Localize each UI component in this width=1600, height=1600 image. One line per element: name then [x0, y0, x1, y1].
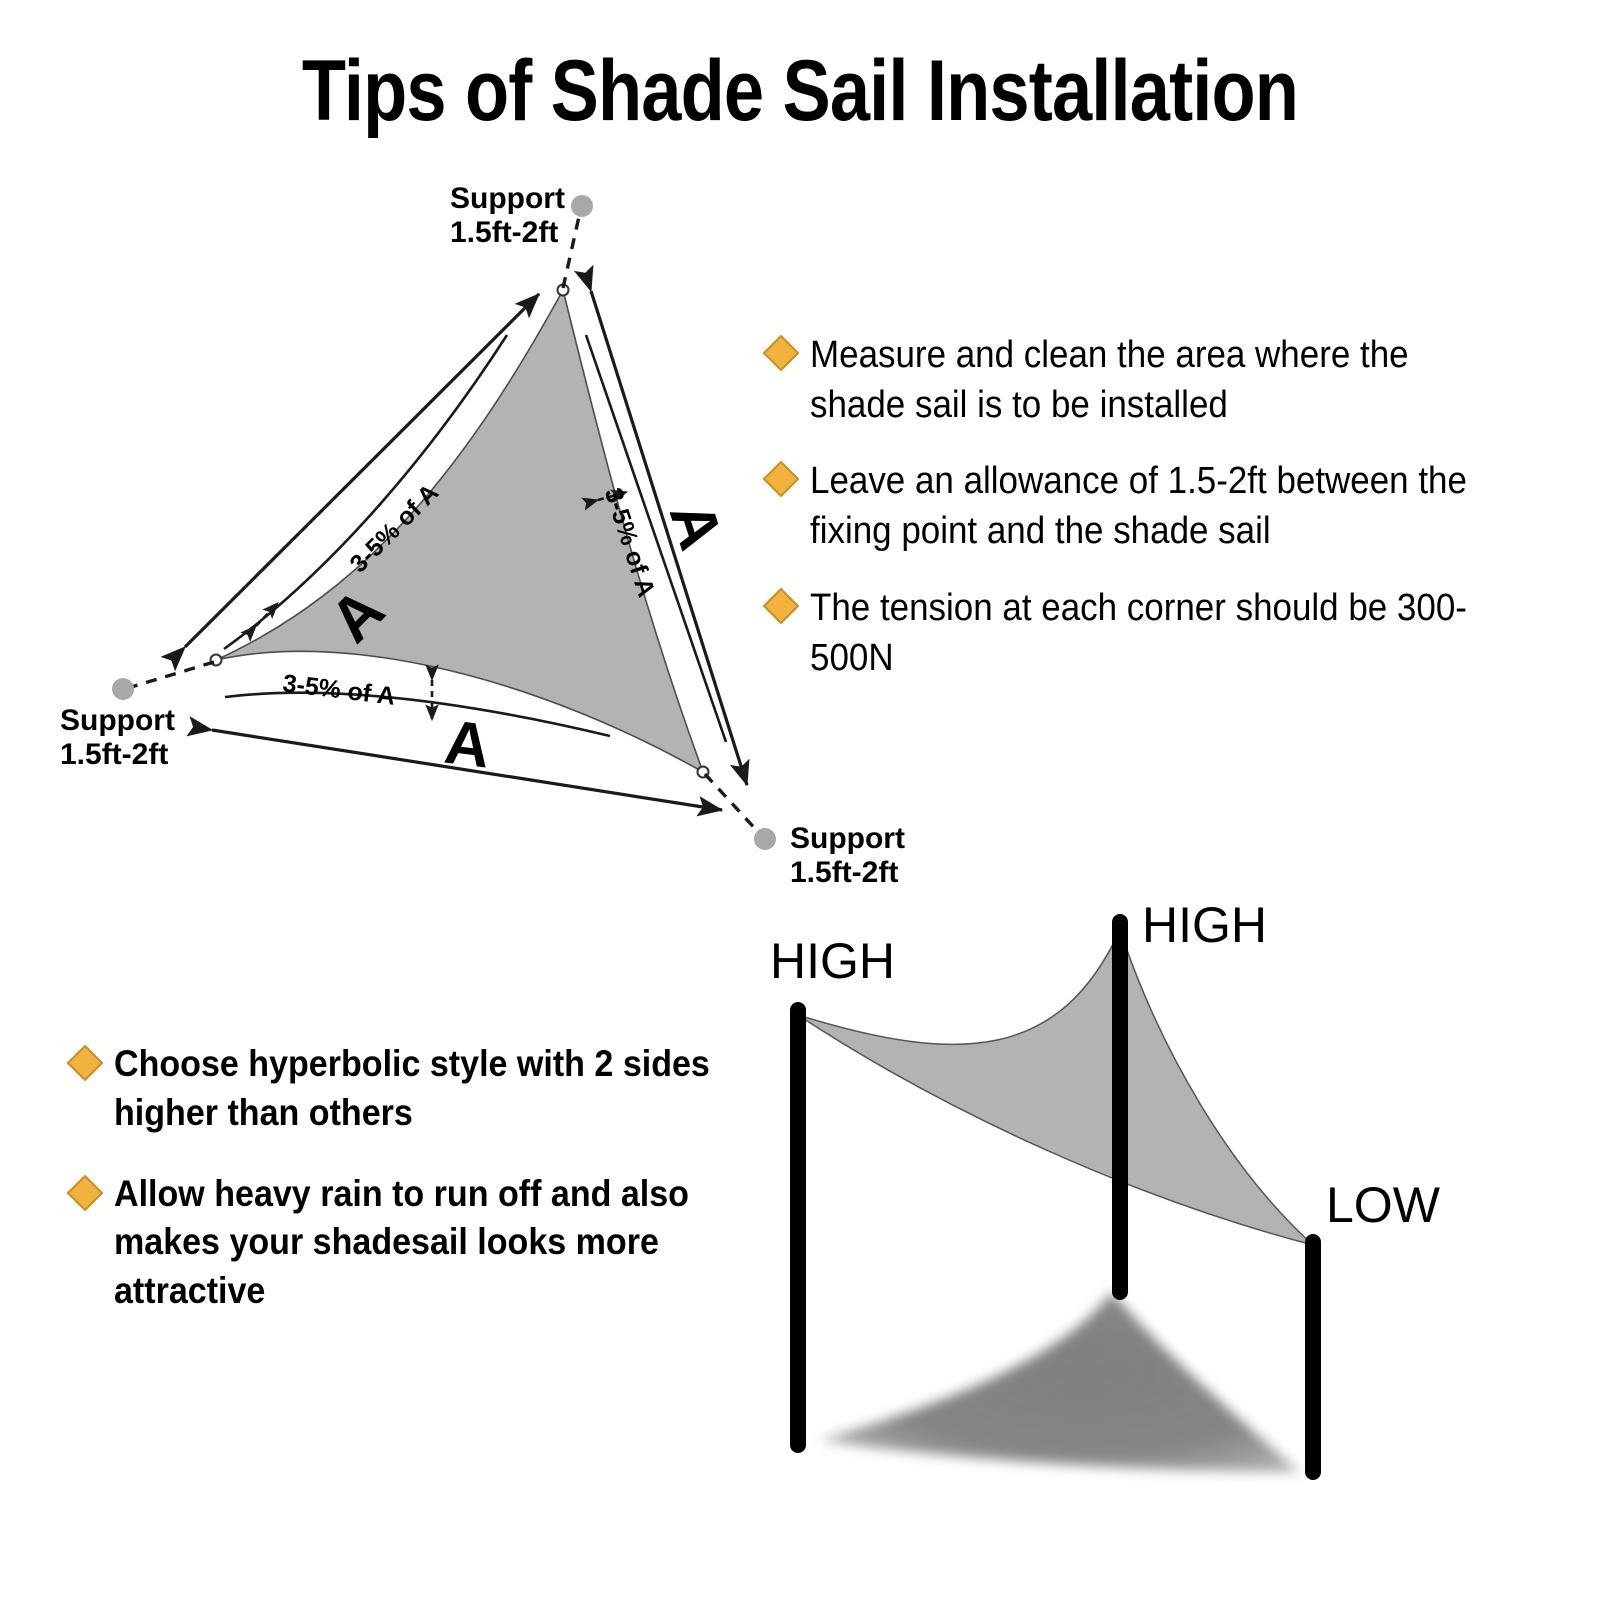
- ground-shadow: [820, 1292, 1300, 1472]
- support-label-top: Support 1.5ft-2ft: [450, 182, 565, 249]
- label-high-left: HIGH: [770, 933, 895, 989]
- support-label-br-line1: Support: [790, 822, 905, 855]
- label-high-right: HIGH: [1142, 900, 1267, 953]
- label-low-right: LOW: [1326, 1177, 1441, 1233]
- support-dot-bottom-left: [112, 678, 134, 700]
- support-label-top-line1: Support: [450, 182, 565, 215]
- page-title: Tips of Shade Sail Installation: [128, 48, 1472, 134]
- support-label-br-line2: 1.5ft-2ft: [790, 856, 898, 889]
- list-item-label: The tension at each corner should be 300…: [810, 583, 1471, 683]
- support-label-bottom-left: Support 1.5ft-2ft: [60, 704, 175, 771]
- support-label-bl-line2: 1.5ft-2ft: [60, 738, 168, 771]
- tips-list-right: Measure and clean the area where the sha…: [768, 330, 1528, 709]
- list-item: Allow heavy rain to run off and also mak…: [72, 1170, 772, 1316]
- diamond-bullet-icon: [763, 461, 800, 498]
- support-dot-top: [571, 195, 593, 217]
- support-dot-bottom-right: [754, 828, 776, 850]
- support-lead-bottom-right: [705, 774, 760, 834]
- list-item: Choose hyperbolic style with 2 sides hig…: [72, 1040, 772, 1138]
- support-label-bl-line1: Support: [60, 704, 175, 737]
- list-item: Measure and clean the area where the sha…: [768, 330, 1528, 430]
- support-label-top-line2: 1.5ft-2ft: [450, 216, 558, 249]
- list-item: The tension at each corner should be 300…: [768, 583, 1528, 683]
- tips-list-bottom-left: Choose hyperbolic style with 2 sides hig…: [72, 1040, 772, 1348]
- list-item-label: Choose hyperbolic style with 2 sides hig…: [114, 1040, 719, 1138]
- dim-letter-right: A: [656, 494, 735, 558]
- hyperbolic-shade-sail-diagram: HIGH HIGH LOW: [760, 900, 1600, 1520]
- list-item-label: Leave an allowance of 1.5-2ft between th…: [810, 456, 1471, 556]
- list-item: Leave an allowance of 1.5-2ft between th…: [768, 456, 1528, 556]
- support-lead-top: [563, 212, 580, 288]
- diamond-bullet-icon: [67, 1174, 104, 1211]
- support-lead-bottom-left: [128, 662, 214, 688]
- dim-allowance-bottom: 3-5% of A: [281, 669, 397, 711]
- dim-letter-bottom: A: [441, 708, 494, 782]
- diamond-bullet-icon: [763, 335, 800, 372]
- diamond-bullet-icon: [763, 587, 800, 624]
- list-item-label: Allow heavy rain to run off and also mak…: [114, 1170, 719, 1316]
- list-item-label: Measure and clean the area where the sha…: [810, 330, 1471, 430]
- diamond-bullet-icon: [67, 1045, 104, 1082]
- dim-gap-left: [256, 603, 278, 626]
- support-label-bottom-right: Support 1.5ft-2ft: [790, 822, 905, 889]
